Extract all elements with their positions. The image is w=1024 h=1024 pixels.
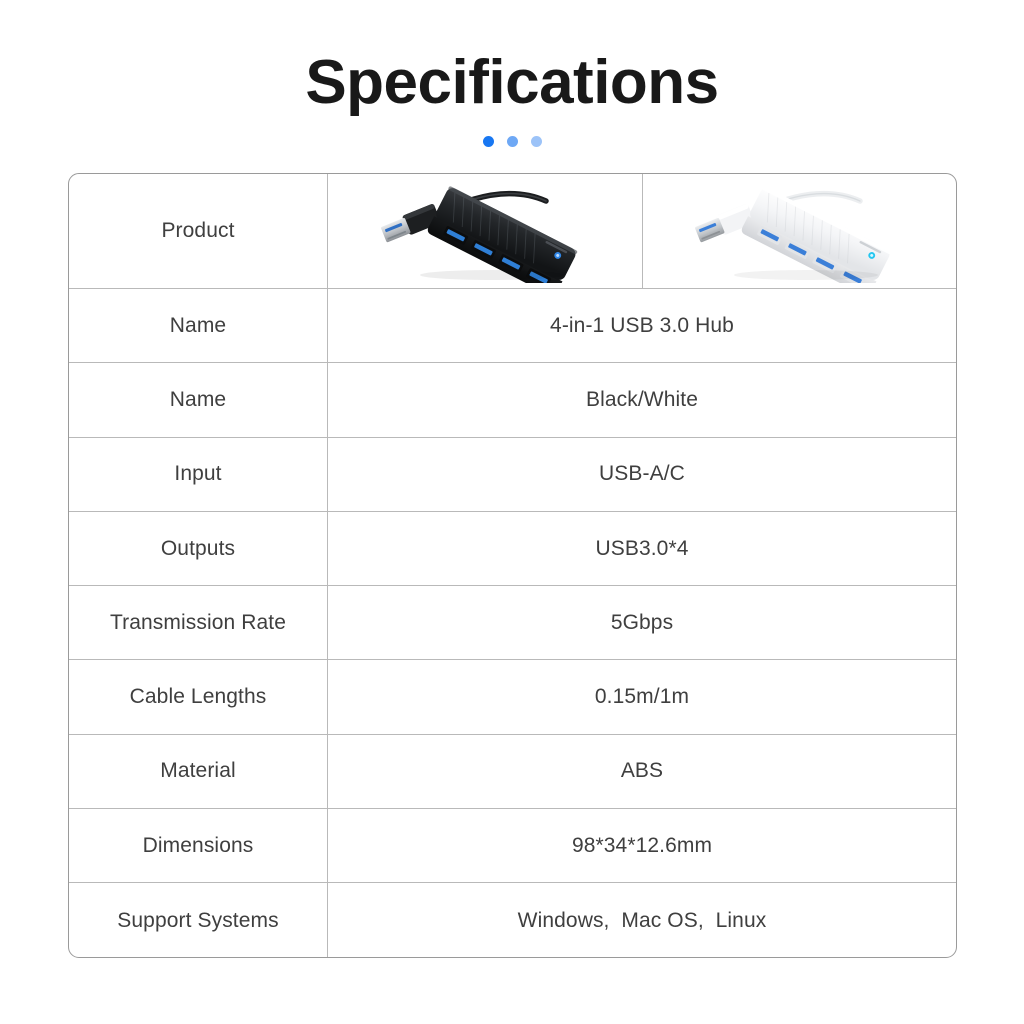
row-value: USB3.0*4 bbox=[328, 512, 956, 585]
specification-rows: Name4-in-1 USB 3.0 HubNameBlack/WhiteInp… bbox=[69, 289, 956, 958]
row-label: Support Systems bbox=[69, 883, 328, 957]
table-row: Name4-in-1 USB 3.0 Hub bbox=[69, 289, 956, 363]
row-value: Windows, Mac OS, Linux bbox=[328, 883, 956, 957]
table-row: InputUSB-A/C bbox=[69, 438, 956, 512]
row-label: Name bbox=[69, 289, 328, 362]
table-row-product: Product bbox=[69, 174, 956, 289]
row-label: Cable Lengths bbox=[69, 660, 328, 733]
row-label: Name bbox=[69, 363, 328, 436]
row-value: 5Gbps bbox=[328, 586, 956, 659]
table-row: Support SystemsWindows, Mac OS, Linux bbox=[69, 883, 956, 957]
table-row: Dimensions98*34*12.6mm bbox=[69, 809, 956, 883]
row-value: Black/White bbox=[328, 363, 956, 436]
dot-3-icon bbox=[531, 136, 542, 147]
specifications-table: Product bbox=[68, 173, 957, 958]
dot-2-icon bbox=[507, 136, 518, 147]
table-row: OutputsUSB3.0*4 bbox=[69, 512, 956, 586]
row-label: Material bbox=[69, 735, 328, 808]
page-title: Specifications bbox=[0, 52, 1024, 114]
dot-1-icon bbox=[483, 136, 494, 147]
usb-hub-white-graphic bbox=[674, 179, 924, 283]
usb-hub-black-graphic bbox=[360, 179, 610, 283]
table-row: Transmission Rate5Gbps bbox=[69, 586, 956, 660]
row-value: 4-in-1 USB 3.0 Hub bbox=[328, 289, 956, 362]
specifications-table-wrapper: Product bbox=[68, 173, 957, 958]
table-row: Cable Lengths0.15m/1m bbox=[69, 660, 956, 734]
row-label-product: Product bbox=[69, 174, 328, 288]
row-label: Input bbox=[69, 438, 328, 511]
row-label: Dimensions bbox=[69, 809, 328, 882]
row-value: ABS bbox=[328, 735, 956, 808]
row-value: 98*34*12.6mm bbox=[328, 809, 956, 882]
row-label: Outputs bbox=[69, 512, 328, 585]
page-header: Specifications bbox=[0, 0, 1024, 147]
dot-indicator-group bbox=[0, 136, 1024, 147]
usb-hub-black-image bbox=[328, 174, 643, 288]
table-row: NameBlack/White bbox=[69, 363, 956, 437]
row-label: Transmission Rate bbox=[69, 586, 328, 659]
usb-hub-white-image bbox=[643, 174, 957, 288]
table-row: MaterialABS bbox=[69, 735, 956, 809]
row-value: 0.15m/1m bbox=[328, 660, 956, 733]
row-value: USB-A/C bbox=[328, 438, 956, 511]
